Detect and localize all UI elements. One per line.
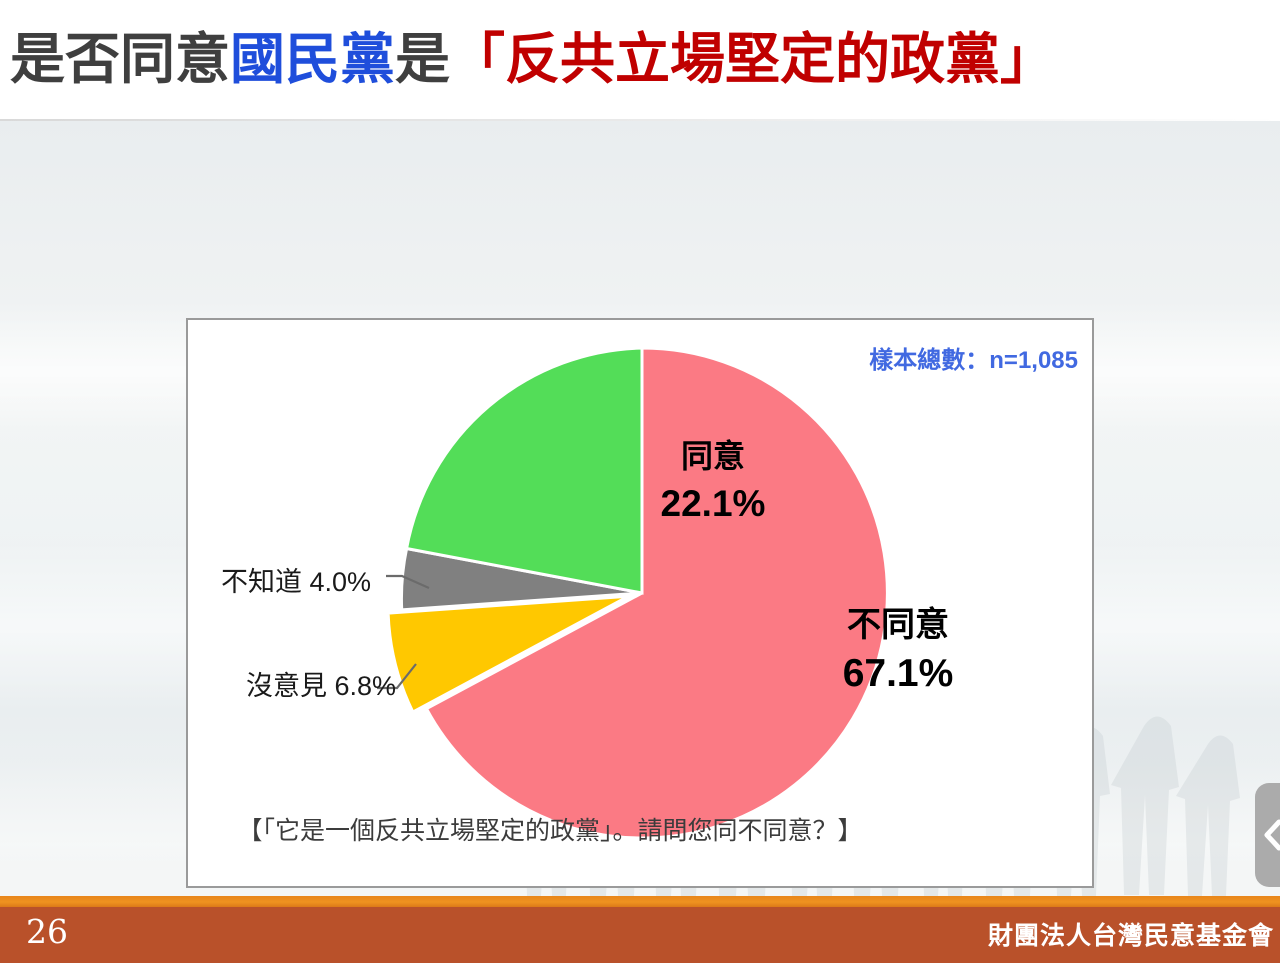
title-segment-dark-2: 是: [395, 28, 450, 90]
title-segment-party: 國民黨: [230, 28, 395, 90]
previous-slide-button[interactable]: [1255, 783, 1280, 887]
organization-name: 財團法人台灣民意基金會: [988, 916, 1274, 952]
pie-slice-agree[interactable]: [407, 348, 642, 593]
footer-accent-strip: [0, 896, 1280, 907]
chart-container: 樣本總數：n=1,085: [186, 318, 1094, 888]
pie-label-disagree-name: 不同意: [847, 606, 949, 644]
pie-callout-dont-know: 不知道 4.0%: [221, 560, 371, 599]
slide-body: 樣本總數：n=1,085: [0, 121, 1280, 896]
slide-title-bar: 是否同意國民黨是「反共立場堅定的政黨」: [0, 0, 1280, 121]
pie-label-agree: 同意 22.1%: [618, 438, 808, 525]
page-number: 26: [26, 912, 68, 951]
pie-label-agree-name: 同意: [681, 438, 745, 474]
pie-label-disagree-percent: 67.1%: [788, 651, 1008, 697]
pie-chart: 同意 22.1% 不同意 67.1% 不知道 4.0% 沒意見 6.8%: [188, 320, 1092, 886]
slide-footer: 26 財團法人台灣民意基金會: [0, 896, 1280, 963]
page-title: 是否同意國民黨是「反共立場堅定的政黨」: [10, 24, 1055, 94]
pie-label-agree-percent: 22.1%: [618, 482, 808, 526]
title-segment-dark-1: 是否同意: [10, 28, 230, 90]
slide: 是否同意國民黨是「反共立場堅定的政黨」: [0, 0, 1280, 963]
pie-chart-svg: [188, 320, 1092, 886]
chevron-left-icon: [1260, 819, 1280, 851]
chart-caption: 【「它是一個反共立場堅定的政黨」。請問您同不同意？】: [0, 811, 1100, 847]
pie-label-disagree: 不同意 67.1%: [788, 605, 1008, 697]
title-segment-quote: 「反共立場堅定的政黨」: [450, 28, 1055, 90]
pie-callout-no-opinion: 沒意見 6.8%: [246, 664, 396, 703]
